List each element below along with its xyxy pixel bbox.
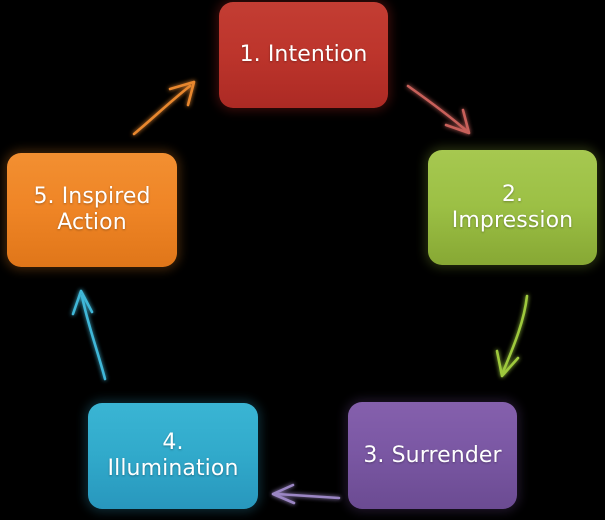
node-intention[interactable]: 1. Intention — [219, 2, 388, 108]
arrow-inspired-action-to-intention — [134, 82, 194, 134]
node-impression[interactable]: 2. Impression — [428, 150, 597, 265]
node-surrender-label: 3. Surrender — [358, 443, 507, 469]
node-illumination-label-line-1: 4. — [162, 430, 183, 455]
node-inspired-action-label-line-1: 5. Inspired — [33, 184, 150, 209]
arrow-impression-to-surrender — [497, 296, 527, 376]
arrow-illumination-to-inspired-action — [73, 291, 105, 379]
node-inspired-action-label-line-2: Action — [57, 210, 127, 235]
node-illumination[interactable]: 4. Illumination — [88, 403, 258, 509]
node-surrender[interactable]: 3. Surrender — [348, 402, 517, 509]
cycle-diagram: 1. Intention 2. Impression 3. Surrender … — [0, 0, 605, 520]
node-inspired-action-label: 5. Inspired Action — [17, 184, 167, 235]
node-illumination-label: 4. Illumination — [98, 430, 248, 481]
node-inspired-action[interactable]: 5. Inspired Action — [7, 153, 177, 267]
node-illumination-label-line-2: Illumination — [108, 456, 239, 481]
arrow-intention-to-impression — [408, 86, 469, 133]
arrow-surrender-to-illumination — [273, 485, 339, 503]
node-intention-label: 1. Intention — [229, 42, 378, 68]
node-impression-label: 2. Impression — [438, 182, 587, 233]
